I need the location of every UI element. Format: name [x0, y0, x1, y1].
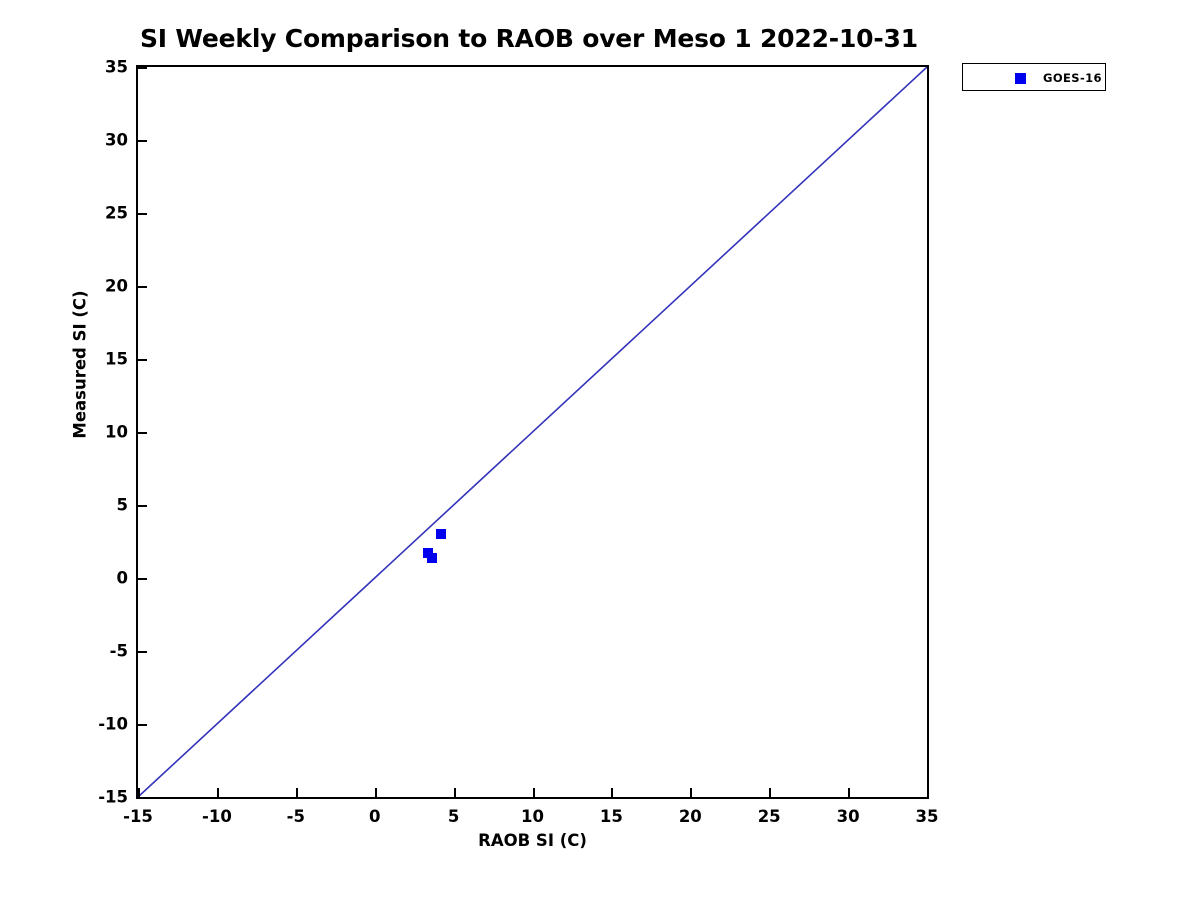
- y-axis-tick: [138, 505, 147, 507]
- y-axis-tick: [138, 286, 147, 288]
- data-point: [427, 553, 437, 563]
- x-axis-tick: [533, 788, 535, 797]
- y-axis-tick: [138, 797, 147, 799]
- plot-inner: [138, 67, 927, 797]
- x-axis-tick-label: 5: [448, 807, 459, 826]
- legend-label-goes16: GOES-16: [1043, 71, 1102, 85]
- y-axis-tick: [138, 724, 147, 726]
- x-axis-tick: [690, 788, 692, 797]
- y-axis-tick-label: 30: [66, 131, 128, 150]
- x-axis-tick: [217, 788, 219, 797]
- legend: GOES-16: [962, 63, 1106, 91]
- chart-root: SI Weekly Comparison to RAOB over Meso 1…: [0, 0, 1200, 900]
- y-axis-label: Measured SI (C): [71, 255, 90, 475]
- x-axis-tick-label: 0: [369, 807, 380, 826]
- x-axis-tick-label: 35: [916, 807, 939, 826]
- x-axis-tick-label: 10: [521, 807, 544, 826]
- data-point: [436, 529, 446, 539]
- x-axis-tick: [375, 788, 377, 797]
- x-axis-tick: [454, 788, 456, 797]
- x-axis-tick-label: 15: [600, 807, 623, 826]
- page-title: SI Weekly Comparison to RAOB over Meso 1…: [140, 24, 940, 53]
- x-axis-tick: [769, 788, 771, 797]
- x-axis-tick-label: -5: [287, 807, 305, 826]
- legend-swatch-goes16-icon: [1015, 73, 1026, 84]
- x-axis-tick-label: 20: [679, 807, 702, 826]
- y-axis-tick: [138, 213, 147, 215]
- x-axis-tick-label: 30: [837, 807, 860, 826]
- one-to-one-reference-line: [138, 67, 927, 797]
- y-axis-tick: [138, 140, 147, 142]
- x-axis-tick: [848, 788, 850, 797]
- y-axis-tick-label: -15: [66, 788, 128, 807]
- y-axis-tick-label: -5: [66, 642, 128, 661]
- y-axis-tick-label: 35: [66, 58, 128, 77]
- y-axis-tick: [138, 578, 147, 580]
- y-axis-tick: [138, 67, 147, 69]
- y-axis-tick-label: -10: [66, 715, 128, 734]
- x-axis-tick: [611, 788, 613, 797]
- y-axis-tick: [138, 359, 147, 361]
- x-axis-tick-label: -15: [123, 807, 153, 826]
- y-axis-tick: [138, 432, 147, 434]
- x-axis-tick: [138, 788, 140, 797]
- y-axis-tick-label: 0: [66, 569, 128, 588]
- x-axis-tick: [296, 788, 298, 797]
- x-axis-label: RAOB SI (C): [136, 831, 929, 850]
- y-axis-tick: [138, 651, 147, 653]
- y-axis-tick-label: 5: [66, 496, 128, 515]
- x-axis-tick-label: 25: [758, 807, 781, 826]
- plot-area: [136, 65, 929, 799]
- y-axis-tick-label: 25: [66, 204, 128, 223]
- x-axis-tick-label: -10: [202, 807, 232, 826]
- x-axis-tick: [927, 788, 929, 797]
